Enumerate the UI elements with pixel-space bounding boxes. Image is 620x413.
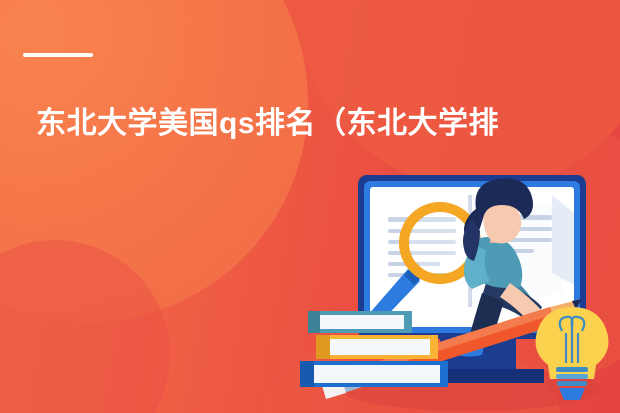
magnifier-lens <box>410 213 470 273</box>
article-cover-banner: 东北大学美国qs排名（东北大学排 <box>0 0 620 413</box>
page-title: 东北大学美国qs排名（东北大学排 <box>36 103 620 145</box>
book-blue <box>300 361 448 387</box>
study-search-illustration <box>300 165 620 413</box>
book-yellow <box>316 335 438 359</box>
book-teal <box>308 311 412 333</box>
decorative-rule <box>23 53 93 57</box>
